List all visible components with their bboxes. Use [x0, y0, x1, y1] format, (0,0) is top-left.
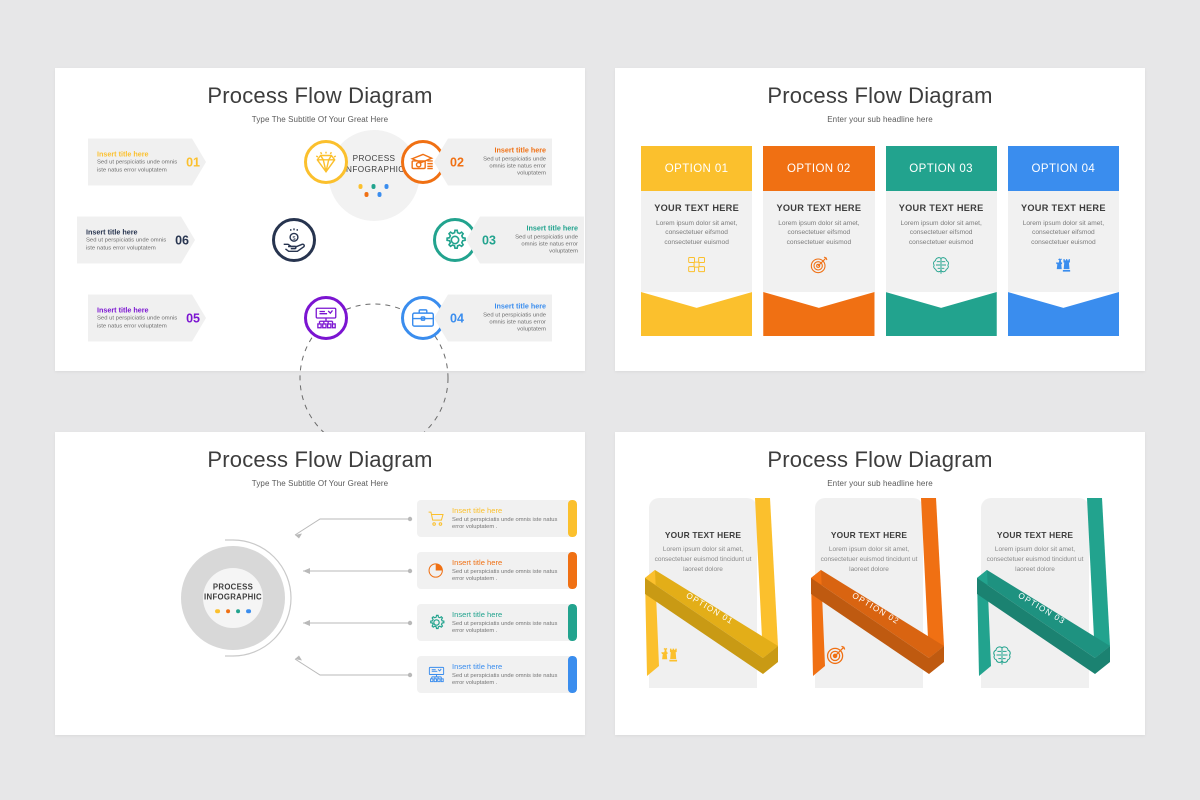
money-icon	[410, 149, 436, 175]
row-text: Insert title here Sed ut perspiciatis un…	[449, 506, 577, 531]
step-title: Insert title here	[501, 224, 578, 233]
list-item[interactable]: Insert title here Sed ut perspiciatis un…	[417, 656, 577, 693]
circular-diagram: PROCESS INFOGRAPHIC	[55, 130, 585, 345]
step-body: Sed ut perspiciatis unde omnis iste natu…	[86, 238, 170, 253]
row-title: Insert title here	[452, 506, 565, 516]
row-accent-bar	[568, 500, 577, 537]
ribbon-diagram: YOUR TEXT HERE Lorem ipsum dolor sit ame…	[615, 488, 1145, 703]
step-tag-04[interactable]: Insert title here Sed ut perspiciatis un…	[434, 295, 552, 342]
ribbon-text-head: YOUR TEXT HERE	[815, 530, 923, 540]
page-title: Process Flow Diagram	[55, 68, 585, 109]
option-icon-slot	[809, 254, 829, 276]
ribbon-text: YOUR TEXT HERE Lorem ipsum dolor sit ame…	[815, 530, 923, 575]
row-body: Sed ut perspiciatis unde omnis iste natu…	[452, 673, 565, 687]
row-title: Insert title here	[452, 558, 565, 568]
step-number: 01	[186, 155, 200, 169]
step-tag-03[interactable]: Insert title here Sed ut perspiciatis un…	[466, 217, 584, 264]
option-body: YOUR TEXT HERE Lorem ipsum dolor sit ame…	[886, 191, 997, 292]
option-column-04[interactable]: OPTION 04 YOUR TEXT HERE Lorem ipsum dol…	[1008, 146, 1119, 336]
ribbon-text-body: Lorem ipsum dolor sit amet, consectetuer…	[815, 545, 923, 575]
option-columns: OPTION 01 YOUR TEXT HERE Lorem ipsum dol…	[641, 146, 1119, 336]
hub-line-1: PROCESS	[353, 153, 396, 164]
option-icon-slot	[1053, 254, 1073, 276]
page-subtitle: Enter your sub headline here	[615, 115, 1145, 124]
brain-icon	[931, 255, 951, 275]
node-step-06[interactable]: $	[272, 218, 316, 262]
ribbon-text-head: YOUR TEXT HERE	[649, 530, 757, 540]
row-text: Insert title here Sed ut perspiciatis un…	[449, 610, 577, 635]
option-footer-chevron	[641, 292, 752, 336]
option-header: OPTION 02	[763, 146, 874, 191]
option-footer-chevron	[763, 292, 874, 336]
row-icon-slot	[423, 665, 449, 684]
option-icon-slot	[687, 254, 707, 276]
step-title: Insert title here	[469, 146, 546, 155]
step-body: Sed ut perspiciatis unde omnis iste natu…	[469, 156, 546, 178]
option-header: OPTION 04	[1008, 146, 1119, 191]
option-text-head: YOUR TEXT HERE	[899, 203, 984, 213]
option-text-body: Lorem ipsum dolor sit amet, consectetuer…	[894, 219, 989, 247]
row-title: Insert title here	[452, 662, 565, 672]
option-text-head: YOUR TEXT HERE	[776, 203, 861, 213]
ribbon-icon-slot	[991, 644, 1013, 671]
network-blocks-icon	[687, 255, 707, 275]
ribbon-text: YOUR TEXT HERE Lorem ipsum dolor sit ame…	[981, 530, 1089, 575]
presentation-icon	[313, 305, 339, 331]
gear-icon	[427, 613, 446, 632]
page-title: Process Flow Diagram	[55, 432, 585, 473]
step-tag-01[interactable]: Insert title here Sed ut perspiciatis un…	[88, 139, 206, 186]
chess-icon	[1053, 255, 1073, 275]
option-text-body: Lorem ipsum dolor sit amet, consectetuer…	[771, 219, 866, 247]
step-number: 03	[482, 233, 496, 247]
ribbon-option-03[interactable]: YOUR TEXT HERE Lorem ipsum dolor sit ame…	[969, 496, 1121, 696]
presentation-icon	[427, 665, 446, 684]
list-item[interactable]: Insert title here Sed ut perspiciatis un…	[417, 500, 577, 537]
row-icon-slot	[423, 613, 449, 632]
briefcase-icon	[410, 305, 436, 331]
row-text: Insert title here Sed ut perspiciatis un…	[449, 558, 577, 583]
step-title: Insert title here	[97, 149, 181, 158]
option-footer-chevron	[1008, 292, 1119, 336]
step-title: Insert title here	[97, 305, 181, 314]
step-tag-05[interactable]: Insert title here Sed ut perspiciatis un…	[88, 295, 206, 342]
option-body: YOUR TEXT HERE Lorem ipsum dolor sit ame…	[763, 191, 874, 292]
step-body: Sed ut perspiciatis unde omnis iste natu…	[97, 316, 181, 331]
step-tag-02[interactable]: Insert title here Sed ut perspiciatis un…	[434, 139, 552, 186]
option-footer-chevron	[886, 292, 997, 336]
option-text-head: YOUR TEXT HERE	[654, 203, 739, 213]
step-tag-06[interactable]: Insert title here Sed ut perspiciatis un…	[77, 217, 195, 264]
page-subtitle: Type The Subtitle Of Your Great Here	[55, 115, 585, 124]
option-text-head: YOUR TEXT HERE	[1021, 203, 1106, 213]
option-body: YOUR TEXT HERE Lorem ipsum dolor sit ame…	[641, 191, 752, 292]
donut-list-diagram: PROCESS INFOGRAPHIC	[55, 488, 585, 703]
ribbon-text-head: YOUR TEXT HERE	[981, 530, 1089, 540]
page-title: Process Flow Diagram	[615, 68, 1145, 109]
page-subtitle: Enter your sub headline here	[615, 479, 1145, 488]
row-text: Insert title here Sed ut perspiciatis un…	[449, 662, 577, 687]
option-header: OPTION 01	[641, 146, 752, 191]
step-title: Insert title here	[86, 227, 170, 236]
row-accent-bar	[568, 656, 577, 693]
diamond-icon	[313, 149, 339, 175]
option-column-03[interactable]: OPTION 03 YOUR TEXT HERE Lorem ipsum dol…	[886, 146, 997, 336]
row-body: Sed ut perspiciatis unde omnis iste natu…	[452, 621, 565, 635]
hub-dots	[354, 182, 394, 198]
option-header: OPTION 03	[886, 146, 997, 191]
ribbon-option-01[interactable]: YOUR TEXT HERE Lorem ipsum dolor sit ame…	[637, 496, 789, 696]
slide-deck-canvas: Process Flow Diagram Type The Subtitle O…	[0, 0, 1200, 800]
ribbon-icon-slot	[659, 644, 681, 671]
option-text-body: Lorem ipsum dolor sit amet, consectetuer…	[649, 219, 744, 247]
gear-icon	[442, 227, 468, 253]
ribbon-text: YOUR TEXT HERE Lorem ipsum dolor sit ame…	[649, 530, 757, 575]
step-body: Sed ut perspiciatis unde omnis iste natu…	[97, 160, 181, 175]
step-body: Sed ut perspiciatis unde omnis iste natu…	[501, 234, 578, 256]
step-number: 02	[450, 155, 464, 169]
option-body: YOUR TEXT HERE Lorem ipsum dolor sit ame…	[1008, 191, 1119, 292]
page-title: Process Flow Diagram	[615, 432, 1145, 473]
list-item[interactable]: Insert title here Sed ut perspiciatis un…	[417, 552, 577, 589]
chess-icon	[659, 644, 681, 666]
ribbon-icon-slot	[825, 644, 847, 671]
slide-circular-process[interactable]: Process Flow Diagram Type The Subtitle O…	[55, 68, 585, 371]
pie-chart-icon	[427, 561, 446, 580]
target-icon	[825, 644, 847, 666]
ribbon-option-02[interactable]: YOUR TEXT HERE Lorem ipsum dolor sit ame…	[803, 496, 955, 696]
row-accent-bar	[568, 604, 577, 641]
option-column-02[interactable]: OPTION 02 YOUR TEXT HERE Lorem ipsum dol…	[763, 146, 874, 336]
info-row-list: Insert title here Sed ut perspiciatis un…	[417, 500, 577, 708]
row-accent-bar	[568, 552, 577, 589]
row-title: Insert title here	[452, 610, 565, 620]
slide-ribbon-options[interactable]: Process Flow Diagram Enter your sub head…	[615, 432, 1145, 735]
step-number: 06	[175, 233, 189, 247]
option-column-01[interactable]: OPTION 01 YOUR TEXT HERE Lorem ipsum dol…	[641, 146, 752, 336]
option-icon-slot	[931, 254, 951, 276]
row-icon-slot	[423, 509, 449, 528]
option-text-body: Lorem ipsum dolor sit amet, consectetuer…	[1016, 219, 1111, 247]
money-hand-icon: $	[281, 227, 307, 253]
hub-line-2: INFOGRAPHIC	[343, 164, 404, 175]
ribbon-text-body: Lorem ipsum dolor sit amet, consectetuer…	[649, 545, 757, 575]
row-icon-slot	[423, 561, 449, 580]
svg-text:$: $	[292, 236, 295, 242]
node-step-01[interactable]	[304, 140, 348, 184]
slide-four-options[interactable]: Process Flow Diagram Enter your sub head…	[615, 68, 1145, 371]
slide-donut-list[interactable]: Process Flow Diagram Type The Subtitle O…	[55, 432, 585, 735]
step-body: Sed ut perspiciatis unde omnis iste natu…	[469, 312, 546, 334]
list-item[interactable]: Insert title here Sed ut perspiciatis un…	[417, 604, 577, 641]
row-body: Sed ut perspiciatis unde omnis iste natu…	[452, 517, 565, 531]
ribbon-text-body: Lorem ipsum dolor sit amet, consectetuer…	[981, 545, 1089, 575]
step-number: 05	[186, 311, 200, 325]
node-step-05[interactable]	[304, 296, 348, 340]
row-body: Sed ut perspiciatis unde omnis iste natu…	[452, 569, 565, 583]
page-subtitle: Type The Subtitle Of Your Great Here	[55, 479, 585, 488]
target-icon	[809, 255, 829, 275]
step-number: 04	[450, 311, 464, 325]
cart-icon	[427, 509, 446, 528]
step-title: Insert title here	[469, 302, 546, 311]
brain-icon	[991, 644, 1013, 666]
